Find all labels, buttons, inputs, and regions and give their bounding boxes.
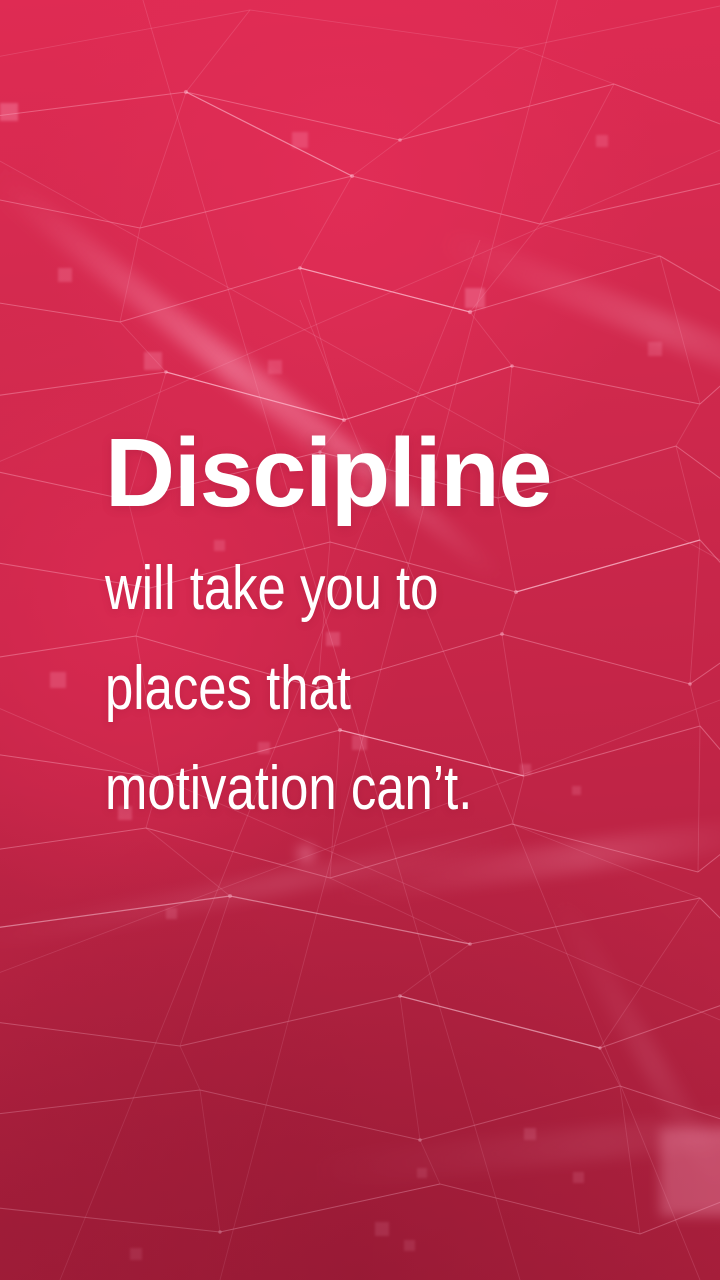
quote-body: will take you to places that motivation … <box>105 539 665 839</box>
quote-card: Discipline will take you to places that … <box>0 0 720 1280</box>
quote-headline: Discipline <box>105 424 665 521</box>
quote-body-line: motivation can’t. <box>105 739 564 839</box>
quote-text-block: Discipline will take you to places that … <box>105 424 665 839</box>
quote-body-line: places that <box>105 639 564 739</box>
quote-body-line: will take you to <box>105 539 564 639</box>
